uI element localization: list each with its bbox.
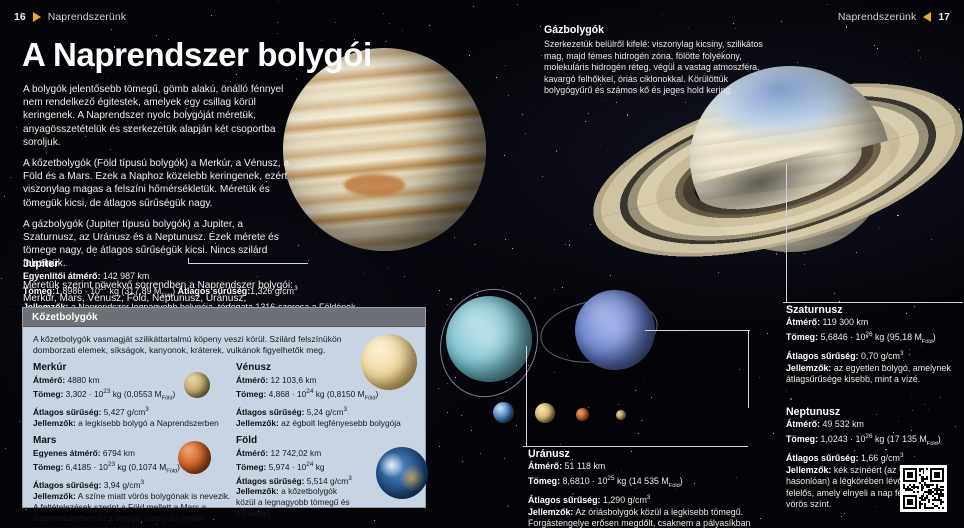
mars-thumbnail — [178, 441, 211, 474]
saturn-mass-subscript: Föld — [922, 338, 933, 344]
uranus-name: Uránusz — [528, 448, 774, 460]
saturn-diameter-line: Átmérő: 119 300 km — [786, 317, 962, 329]
neptune-diameter-label: Átmérő: — [786, 419, 820, 429]
saturn-density-value: 0,70 g/cm — [861, 351, 900, 361]
venus-mass-mantissa: 4,868 · 10 — [269, 388, 307, 398]
jupiter-planet-image — [283, 48, 486, 251]
earth-density-label: Átlagos sűrűség: — [236, 475, 304, 485]
earth-scale-image — [493, 402, 514, 423]
breadcrumb-left[interactable]: 16 Naprendszerünk — [14, 8, 126, 26]
saturn-mass-exponent: 26 — [865, 331, 872, 338]
neptune-name: Neptunusz — [786, 406, 962, 418]
venus-mass-tail: kg (0,8150 M — [313, 388, 364, 398]
jupiter-mass-mantissa: 1,8986 · 10 — [55, 286, 100, 296]
great-red-spot — [344, 174, 405, 196]
earth-diameter-value: 12 742,02 km — [270, 448, 321, 458]
earth-mass-mantissa: 5,974 · 10 — [269, 462, 307, 472]
earth-density-exponent: 3 — [348, 475, 352, 482]
neptune-diameter-line: Átmérő: 49 532 km — [786, 419, 962, 431]
uranus-planet-image — [446, 296, 532, 382]
gas-giants-note: Gázbolygók Szerkezetük belülről kifelé: … — [544, 24, 766, 97]
earth-density-value: 5,514 g/cm — [307, 475, 348, 485]
uranus-mass-line: Tömeg: 8,6810 · 1025 kg (14 535 MFöld) — [528, 473, 774, 492]
mercury-scale-image — [616, 410, 626, 420]
uranus-density-line: Átlagos sűrűség: 1,290 g/cm3 — [528, 492, 774, 507]
terrestrial-planets-grid: Merkúr Átmérő: 4880 km Tömeg: 3,302 · 10… — [23, 359, 425, 528]
nav-label-left[interactable]: Naprendszerünk — [48, 11, 126, 23]
neptune-density-value: 1,66 g/cm — [861, 453, 900, 463]
planet-entry-earth: Föld Átmérő: 12 742,02 km Tömeg: 5,974 ·… — [236, 435, 437, 528]
leader-line-saturn-h — [783, 302, 963, 303]
mars-mass-exponent: 23 — [108, 461, 115, 468]
venus-density-value: 5,24 g/cm — [307, 407, 344, 417]
venus-mass-end: ) — [376, 388, 379, 398]
triangle-left-icon[interactable] — [923, 12, 931, 22]
uranus-density-exponent: 3 — [647, 494, 651, 501]
mars-traits-label: Jellemzők: — [33, 491, 76, 501]
mercury-traits-label: Jellemzők: — [33, 418, 76, 428]
mercury-name: Merkúr — [33, 362, 232, 373]
mars-mass-mantissa: 6,4185 · 10 — [66, 462, 108, 472]
neptune-planet-image — [575, 290, 655, 370]
page-number-left: 16 — [14, 11, 26, 23]
spread-page: 16 Naprendszerünk Naprendszerünk 17 A Na… — [0, 0, 964, 528]
mars-mass-subscript: Föld — [166, 468, 177, 474]
saturn-fact-block: Szaturnusz Átmérő: 119 300 km Tömeg: 5,6… — [786, 304, 962, 386]
planet-entry-mars: Mars Egyenes átmérő: 6794 km Tömeg: 6,41… — [33, 435, 236, 528]
earth-traits-line: Jellemzők: a kőzetbolygók közül a legnag… — [236, 486, 354, 519]
mercury-mass-tail: kg (0,0553 M — [110, 388, 161, 398]
terrestrial-panel-header: Kőzetbolygók — [23, 308, 425, 327]
mercury-density-line: Átlagos sűrűség: 5,427 g/cm3 — [33, 404, 232, 418]
terrestrial-panel-title: Kőzetbolygók — [32, 312, 98, 323]
mars-mass-label: Tömeg: — [33, 462, 63, 472]
jupiter-density-exponent: 3 — [294, 285, 298, 292]
jupiter-diameter-line: Egyenlítői átmérő: 142 987 km — [23, 271, 423, 283]
saturn-mass-mantissa: 5,6846 · 10 — [821, 332, 866, 342]
neptune-mass-line: Tömeg: 1,0243 · 1026 kg (17 135 MFöld) — [786, 431, 962, 450]
mars-traits-line: Jellemzők: A színe miatt vörös bolygónak… — [33, 491, 232, 528]
earth-traits-label: Jellemzők: — [236, 486, 279, 496]
neptune-mass-label: Tömeg: — [786, 434, 818, 444]
jupiter-name: Jupiter — [23, 258, 423, 270]
breadcrumb-right[interactable]: Naprendszerünk 17 — [838, 8, 950, 26]
jupiter-diameter-label: Egyenlítői átmérő: — [23, 271, 100, 281]
page-number-right: 17 — [938, 11, 950, 23]
mars-diameter-label: Egyenes átmérő: — [33, 448, 101, 458]
mercury-traits-line: Jellemzők: a legkisebb bolygó a Naprends… — [33, 418, 232, 429]
mercury-density-label: Átlagos sűrűség: — [33, 407, 101, 417]
mercury-density-value: 5,427 g/cm — [104, 407, 145, 417]
saturn-density-line: Átlagos sűrűség: 0,70 g/cm3 — [786, 348, 962, 363]
mercury-diameter-value: 4880 km — [67, 375, 99, 385]
planet-entry-venus: Vénusz Átmérő: 12 103,6 km Tömeg: 4,868 … — [236, 362, 437, 429]
leader-line-neptune-v — [748, 330, 749, 408]
saturn-diameter-value: 119 300 km — [823, 317, 869, 327]
earth-diameter-label: Átmérő: — [236, 448, 268, 458]
uranus-diameter-line: Átmérő: 51 118 km — [528, 461, 774, 473]
neptune-traits-label: Jellemzők: — [786, 465, 831, 475]
saturn-density-label: Átlagos sűrűség: — [786, 351, 859, 361]
terrestrial-panel-intro: A kőzetbolygók vasmagját szilikáttartalm… — [23, 327, 358, 359]
venus-traits-line: Jellemzők: az égbolt legfényesebb bolygó… — [236, 418, 433, 429]
page-title: A Naprendszer bolygói — [22, 36, 372, 74]
venus-mass-label: Tömeg: — [236, 388, 266, 398]
mars-density-exponent: 3 — [141, 479, 145, 486]
saturn-name: Szaturnusz — [786, 304, 962, 316]
mercury-mass-mantissa: 3,302 · 10 — [66, 388, 104, 398]
venus-traits-value: az égbolt legfényesebb bolygója — [279, 418, 401, 428]
neptune-density-exponent: 3 — [900, 452, 904, 459]
earth-mass-label: Tömeg: — [236, 462, 266, 472]
nav-label-right[interactable]: Naprendszerünk — [838, 11, 916, 23]
uranus-mass-label: Tömeg: — [528, 476, 560, 486]
triangle-right-icon[interactable] — [33, 12, 41, 22]
uranus-diameter-label: Átmérő: — [528, 461, 562, 471]
venus-density-exponent: 3 — [344, 406, 348, 413]
mercury-mass-subscript: Föld — [162, 395, 173, 401]
uranus-mass-mantissa: 8,6810 · 10 — [563, 476, 608, 486]
mars-diameter-value: 6794 km — [103, 448, 135, 458]
jupiter-mass-label: Tömeg: — [23, 286, 55, 296]
uranus-fact-block: Uránusz Átmérő: 51 118 km Tömeg: 8,6810 … — [528, 448, 774, 528]
neptune-mass-exponent: 26 — [865, 433, 872, 440]
earth-name: Föld — [236, 435, 433, 446]
neptune-density-label: Átlagos sűrűség: — [786, 453, 859, 463]
venus-mass-subscript: Föld — [365, 395, 376, 401]
uranus-density-label: Átlagos sűrűség: — [528, 495, 601, 505]
saturn-mass-end: ) — [933, 332, 936, 342]
jupiter-mass-exponent: 27 — [100, 285, 107, 292]
mercury-traits-value: a legkisebb bolygó a Naprendszerben — [76, 418, 219, 428]
saturn-density-exponent: 3 — [900, 350, 904, 357]
terrestrial-planets-panel: Kőzetbolygók A kőzetbolygók vasmagját sz… — [22, 307, 426, 508]
venus-density-line: Átlagos sűrűség: 5,24 g/cm3 — [236, 404, 433, 418]
jupiter-mass-subscript: Föld — [161, 292, 172, 298]
earth-mass-tail: kg — [313, 462, 324, 472]
saturn-mass-line: Tömeg: 5,6846 · 1026 kg (95,18 MFöld) — [786, 329, 962, 348]
uranus-traits-label: Jellemzők: — [528, 507, 573, 517]
mercury-diameter-label: Átmérő: — [33, 375, 65, 385]
uranus-diameter-value: 51 118 km — [565, 461, 606, 471]
intro-paragraph-1: A bolygók jelentősebb tömegű, gömb alakú… — [23, 83, 295, 149]
leader-line-neptune — [645, 330, 750, 331]
venus-scale-image — [535, 403, 555, 423]
mercury-mass-label: Tömeg: — [33, 388, 63, 398]
mars-mass-tail: kg (0,1074 M — [115, 462, 166, 472]
leader-line-saturn — [786, 163, 787, 303]
uranus-mass-exponent: 25 — [607, 475, 614, 482]
jupiter-mass-end: ) — [172, 286, 175, 296]
mars-density-line: Átlagos sűrűség: 3,94 g/cm3 — [33, 477, 232, 491]
venus-mass-line: Tömeg: 4,868 · 1024 kg (0,8150 MFöld) — [236, 386, 433, 404]
jupiter-mass-tail: kg (317,89 M — [107, 286, 161, 296]
mars-scale-image — [576, 408, 589, 421]
neptune-diameter-value: 49 532 km — [823, 419, 864, 429]
planet-entry-mercury: Merkúr Átmérő: 4880 km Tömeg: 3,302 · 10… — [33, 362, 236, 429]
neptune-mass-mantissa: 1,0243 · 10 — [821, 434, 866, 444]
gas-giants-body: Szerkezetük belülről kifelé: viszonylag … — [544, 39, 766, 97]
saturn-traits-line: Jellemzők: az egyetlen bolygó, amelynek … — [786, 363, 962, 386]
jupiter-density-label: Átlagos sűrűség: — [178, 286, 251, 296]
uranus-traits-line: Jellemzők: Az óriásbolygók közül a legki… — [528, 507, 774, 528]
uranus-mass-end: ) — [680, 476, 683, 486]
mars-density-label: Átlagos sűrűség: — [33, 480, 101, 490]
venus-density-label: Átlagos sűrűség: — [236, 407, 304, 417]
saturn-traits-label: Jellemzők: — [786, 363, 831, 373]
leader-line-uranus-h — [523, 446, 748, 447]
venus-traits-label: Jellemzők: — [236, 418, 279, 428]
saturn-mass-label: Tömeg: — [786, 332, 818, 342]
venus-diameter-value: 12 103,6 km — [270, 375, 316, 385]
neptune-mass-tail: kg (17 135 M — [873, 434, 927, 444]
neptune-mass-subscript: Föld — [927, 440, 938, 446]
jupiter-fact-block: Jupiter Egyenlítői átmérő: 142 987 km Tö… — [23, 258, 423, 314]
venus-diameter-line: Átmérő: 12 103,6 km — [236, 375, 433, 386]
intro-paragraph-2: A kőzetbolygók (Föld típusú bolygók) a M… — [23, 157, 295, 210]
gas-giants-heading: Gázbolygók — [544, 24, 766, 36]
qr-code-modules — [903, 468, 944, 509]
saturn-diameter-label: Átmérő: — [786, 317, 820, 327]
jupiter-density-value: 1,326 g/cm — [250, 286, 294, 296]
mars-density-value: 3,94 g/cm — [104, 480, 141, 490]
mercury-density-exponent: 3 — [145, 406, 149, 413]
uranus-mass-tail: kg (14 535 M — [615, 476, 669, 486]
mercury-thumbnail — [184, 372, 210, 398]
qr-code-icon[interactable] — [900, 465, 947, 512]
venus-diameter-label: Átmérő: — [236, 375, 268, 385]
uranus-density-value: 1,290 g/cm — [603, 495, 647, 505]
leader-line-uranus — [526, 346, 527, 447]
neptune-mass-end: ) — [938, 434, 941, 444]
jupiter-mass-density-line: Tömeg:1,8986 · 1027 kg (317,89 MFöld) Át… — [23, 283, 423, 302]
uranus-mass-subscript: Föld — [669, 482, 680, 488]
saturn-mass-tail: kg (95,18 M — [873, 332, 922, 342]
jupiter-diameter-value: 142 987 km — [103, 271, 149, 281]
earth-thumbnail — [376, 447, 428, 499]
venus-name: Vénusz — [236, 362, 433, 373]
mercury-mass-end: ) — [173, 388, 176, 398]
neptune-density-line: Átlagos sűrűség: 1,66 g/cm3 — [786, 450, 962, 465]
